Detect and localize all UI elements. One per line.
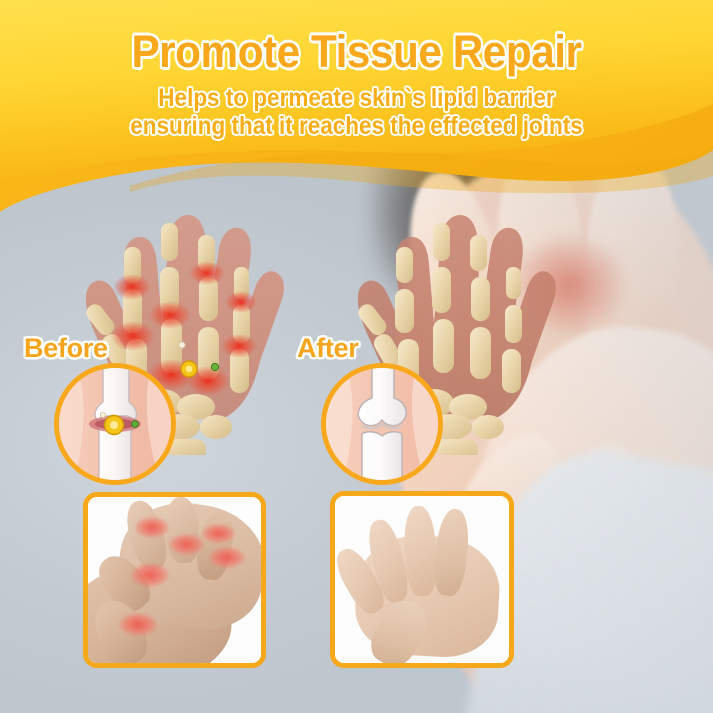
joint-closeup-after: [321, 363, 443, 485]
photo-frame-after[interactable]: [330, 491, 514, 668]
photo-healthy-hand: [335, 496, 509, 663]
photo-red-joint-5: [131, 563, 169, 586]
joint-closeup-before: [54, 363, 176, 485]
label-before: Before: [24, 333, 108, 364]
promo-poster: Before After: [0, 0, 713, 713]
label-after: After: [297, 333, 359, 364]
photo-red-joint-2: [169, 534, 204, 556]
photo-frame-before[interactable]: [83, 492, 266, 668]
photo-elderly-inflamed-hands: [88, 497, 261, 663]
